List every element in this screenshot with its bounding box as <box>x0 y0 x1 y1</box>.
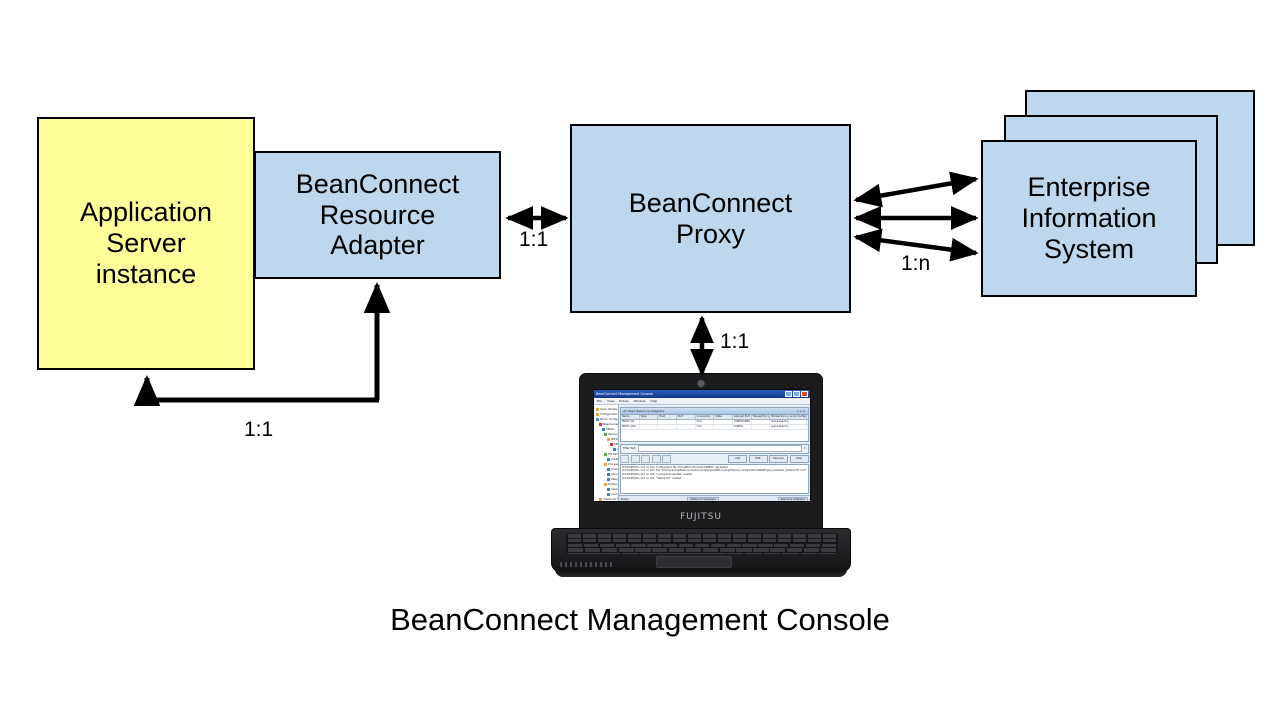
keyboard-row <box>568 544 836 547</box>
edge-label-proxy-eis: 1:n <box>901 252 930 276</box>
first-icon[interactable] <box>620 455 629 463</box>
menu-item-extras[interactable]: Extras <box>619 399 628 403</box>
pane-window-controls[interactable]: ▫ ▫ × <box>797 409 806 413</box>
maximize-icon[interactable] <box>793 391 800 398</box>
folder-icon <box>596 408 599 411</box>
laptop-screen: BeanConnect Management Console File View… <box>593 389 811 502</box>
console-navigation-tree[interactable]: Open Workbenches Configuration Projects … <box>594 405 619 502</box>
item-icon <box>607 458 610 461</box>
item-icon <box>607 468 610 471</box>
config-icon <box>596 418 599 421</box>
folder-icon <box>596 413 599 416</box>
item-icon <box>607 473 610 476</box>
column-header-type[interactable]: Type <box>640 415 659 419</box>
node-icon <box>602 428 605 431</box>
next-icon[interactable] <box>641 455 650 463</box>
laptop-base <box>551 528 851 572</box>
column-header-connection[interactable]: Connection <box>696 415 715 419</box>
management-console-laptop: BeanConnect Management Console File View… <box>551 373 851 588</box>
adapter-icon <box>604 433 607 436</box>
node-application-server-instance[interactable]: Application Server instance <box>37 117 255 370</box>
folder-icon <box>607 438 610 441</box>
cell-connection: Unix <box>696 425 715 429</box>
channel-icon <box>613 448 616 451</box>
item-icon <box>610 443 613 446</box>
laptop-keyboard <box>566 533 838 554</box>
resource-adapters-pane: All Used Resource Adapters ▫ ▫ × Name Ty… <box>620 407 808 443</box>
pane-title-bar: All Used Resource Adapters ▫ ▫ × <box>621 408 807 415</box>
cell-host <box>658 425 677 429</box>
add-button[interactable]: Add <box>728 455 747 463</box>
menu-item-window[interactable]: Window <box>634 399 646 403</box>
item-icon <box>607 478 610 481</box>
keyboard-row <box>568 548 836 551</box>
status-messages-tab[interactable]: Status of messages <box>687 497 718 502</box>
edge-ra-appserver-leg <box>147 378 379 400</box>
column-header-tx-logging[interactable]: Transaction Logging <box>770 415 789 419</box>
laptop-base-front-edge <box>555 569 847 577</box>
console-status-bar: Ready Status of messages Resource Adapte… <box>619 495 810 502</box>
menu-item-file[interactable]: File <box>597 399 602 403</box>
cell-config-path <box>789 420 808 424</box>
edge-label-ra-proxy: 1:1 <box>519 228 548 252</box>
cell-state <box>714 420 733 424</box>
column-header-name[interactable]: Name <box>621 415 640 419</box>
status-resource-adapters-tab[interactable]: Resource Adapters <box>778 497 808 502</box>
laptop-vents <box>560 562 612 567</box>
laptop-lid: BeanConnect Management Console File View… <box>579 373 823 531</box>
message-log-panel[interactable]: [15/10/08] BC-conf: no 102: Configuratio… <box>620 464 808 494</box>
diagram-canvas: Application Server instance BeanConnect … <box>0 0 1280 720</box>
webcam-icon <box>697 379 706 388</box>
cell-config-path <box>789 425 808 429</box>
pane-title-label: All Used Resource Adapters <box>623 409 664 413</box>
laptop-brand-label: FUJITSU <box>580 512 822 522</box>
edge-proxy-eis-3 <box>856 237 976 253</box>
cell-port <box>677 425 696 429</box>
console-window-title: BeanConnect Management Console <box>596 392 653 396</box>
menu-item-help[interactable]: Help <box>650 399 657 403</box>
folder-icon <box>604 453 607 456</box>
column-header-host[interactable]: Host <box>658 415 677 419</box>
cell-port <box>677 420 696 424</box>
cell-listen-port: CONFIGURED <box>733 420 752 424</box>
laptop-trackpad <box>656 556 732 568</box>
copy-icon[interactable] <box>652 455 661 463</box>
cell-host <box>658 420 677 424</box>
help-button[interactable]: Help <box>790 455 809 463</box>
folder-icon <box>599 498 602 501</box>
column-header-state[interactable]: State <box>714 415 733 419</box>
node-beanconnect-proxy[interactable]: BeanConnect Proxy <box>570 124 851 313</box>
prev-icon[interactable] <box>631 455 640 463</box>
close-icon[interactable] <box>801 391 808 398</box>
filter-input[interactable] <box>638 445 803 452</box>
keyboard-row <box>568 534 836 537</box>
cell-tx-log <box>752 425 771 429</box>
filter-bar[interactable]: Filter Text ▾ <box>620 444 808 454</box>
diagram-caption: BeanConnect Management Console <box>0 602 1280 638</box>
item-icon <box>607 488 610 491</box>
filter-dropdown-icon[interactable]: ▾ <box>804 447 805 450</box>
keyboard-row <box>568 553 836 554</box>
column-header-port[interactable]: Port <box>677 415 696 419</box>
print-icon[interactable] <box>662 455 671 463</box>
cell-name: PROXY_RA <box>621 420 640 424</box>
cell-connection: Unix <box>696 420 715 424</box>
folder-icon <box>604 463 607 466</box>
column-header-tx-log[interactable]: Transaction Log <box>752 415 771 419</box>
console-body: Open Workbenches Configuration Projects … <box>594 405 810 502</box>
window-controls[interactable] <box>785 391 808 398</box>
console-menu-bar[interactable]: File View Extras Window Help <box>594 398 810 405</box>
edit-button[interactable]: Edit <box>749 455 768 463</box>
node-enterprise-information-system[interactable]: Enterprise Information System <box>981 140 1197 297</box>
item-icon <box>607 493 610 496</box>
cell-type <box>640 420 659 424</box>
filter-label: Filter Text <box>623 447 636 450</box>
beanconnect-management-console-window: BeanConnect Management Console File View… <box>594 390 810 501</box>
cell-listen-port: CONFIG <box>733 425 752 429</box>
cell-name: PROXY_RA2 <box>621 425 640 429</box>
keyboard-row <box>568 539 836 542</box>
column-header-listen-port[interactable]: Listener Port <box>733 415 752 419</box>
console-title-bar: BeanConnect Management Console <box>594 390 810 398</box>
cell-type <box>640 425 659 429</box>
pane-toolbar[interactable]: Add Edit Remove Help <box>620 455 808 463</box>
cell-tx-log <box>752 420 771 424</box>
node-beanconnect-resource-adapter[interactable]: BeanConnect Resource Adapter <box>254 151 501 279</box>
folder-icon <box>604 483 607 486</box>
remove-button[interactable]: Remove <box>769 455 788 463</box>
console-content-area: All Used Resource Adapters ▫ ▫ × Name Ty… <box>619 405 810 502</box>
proxy-icon <box>599 423 602 426</box>
cell-tx-logging: jee/ra.beanConnect-connect <box>770 420 789 424</box>
cell-tx-logging: jee/ra.beanConnect-connect <box>770 425 789 429</box>
edge-label-proxy-console: 1:1 <box>720 330 749 354</box>
status-ready-label: Ready <box>621 498 629 501</box>
column-header-config-path[interactable]: Local Configuration File Path <box>789 415 808 419</box>
edge-proxy-eis-1 <box>856 179 976 200</box>
menu-item-view[interactable]: View <box>607 399 614 403</box>
minimize-icon[interactable] <box>785 391 792 398</box>
tree-item[interactable]: Advanced Features <box>596 497 617 502</box>
edge-label-ra-appserver: 1:1 <box>244 418 273 442</box>
log-line: [15/10/08] BC-conf: no 101: "deploy.xml"… <box>622 477 806 481</box>
cell-state <box>714 425 733 429</box>
grid-empty-area <box>621 430 807 441</box>
